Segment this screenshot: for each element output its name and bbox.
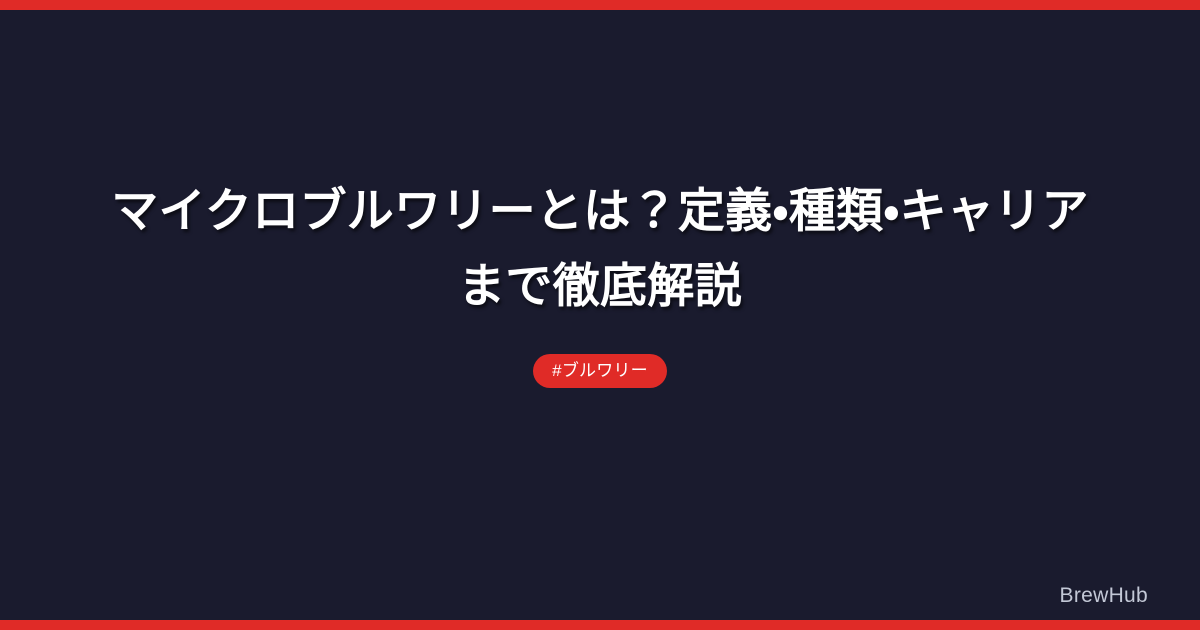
top-accent-bar — [0, 0, 1200, 10]
tag-row: #ブルワリー — [533, 354, 667, 388]
tag-badge-brewery[interactable]: #ブルワリー — [533, 354, 667, 388]
og-image-card: マイクロブルワリーとは？定義・種類・キャリアまで徹底解説 #ブルワリー Brew… — [0, 0, 1200, 630]
site-name: BrewHub — [1060, 585, 1148, 606]
page-title: マイクロブルワリーとは？定義・種類・キャリアまで徹底解説 — [100, 173, 1100, 323]
card-content: マイクロブルワリーとは？定義・種類・キャリアまで徹底解説 #ブルワリー — [0, 10, 1200, 620]
site-footer: BrewHub — [1060, 585, 1148, 606]
bottom-accent-bar — [0, 620, 1200, 630]
